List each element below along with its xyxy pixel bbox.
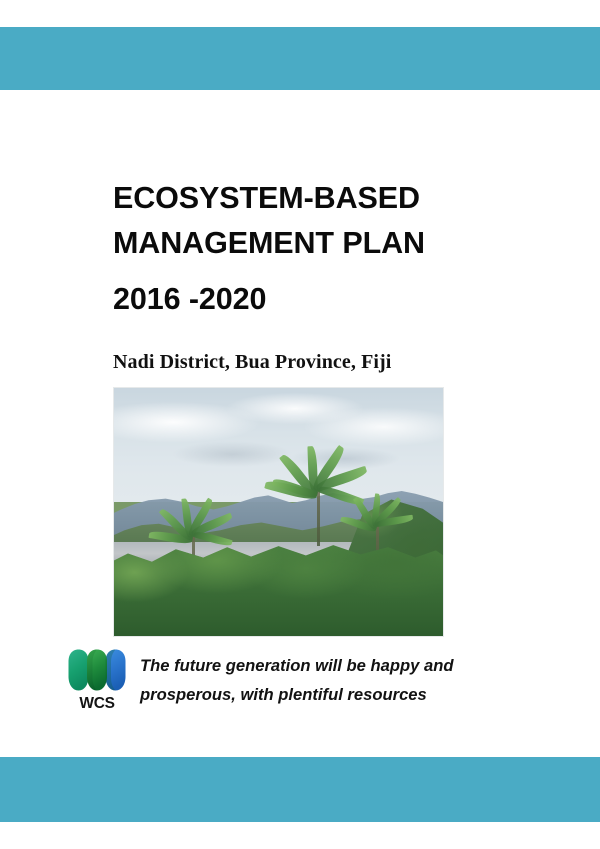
tagline-line-1: The future generation will be happy and xyxy=(140,651,536,680)
title-line-1: ECOSYSTEM-BASED xyxy=(113,176,543,221)
photo-palm-trunk xyxy=(317,488,320,546)
wcs-logo: WCS xyxy=(66,645,128,712)
cover-photo xyxy=(114,388,443,636)
top-accent-band xyxy=(0,27,600,90)
title-line-2: MANAGEMENT PLAN xyxy=(113,221,543,266)
title-year-range: 2016 -2020 xyxy=(113,277,543,322)
cover-page: ECOSYSTEM-BASED MANAGEMENT PLAN 2016 -20… xyxy=(0,0,600,849)
tagline: The future generation will be happy and … xyxy=(140,645,536,709)
tagline-line-2: prosperous, with plentiful resources xyxy=(140,680,536,709)
page-title: ECOSYSTEM-BASED MANAGEMENT PLAN 2016 -20… xyxy=(113,176,543,322)
wcs-wordmark: WCS xyxy=(66,696,128,712)
subtitle-location: Nadi District, Bua Province, Fiji xyxy=(113,351,391,374)
wcs-leaf-w-icon xyxy=(68,648,126,694)
bottom-accent-band xyxy=(0,757,600,822)
footer: WCS The future generation will be happy … xyxy=(66,645,536,712)
